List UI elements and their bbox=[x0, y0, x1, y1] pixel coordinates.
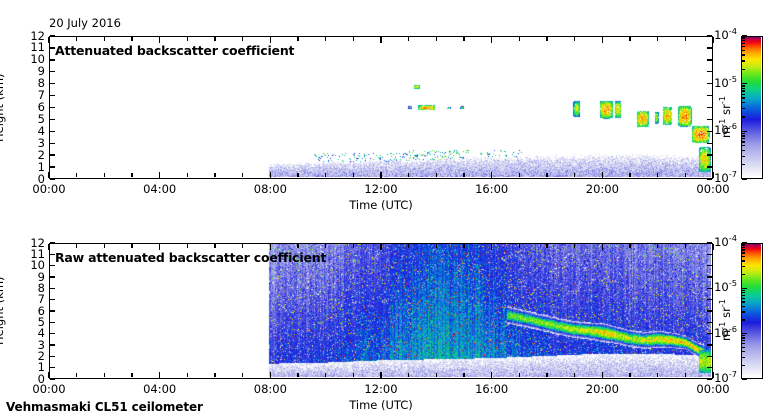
colorbar-minor-tick-1--6-6 bbox=[742, 298, 745, 299]
x-tick-label-attenuated-backscatter-3: 12:00 bbox=[353, 182, 409, 196]
x-minor-tick-attenuated-backscatter-19 bbox=[574, 173, 575, 177]
x-tick-label-attenuated-backscatter-1: 04:00 bbox=[132, 182, 188, 196]
colorbar-minor-tick-1--6-4 bbox=[742, 306, 745, 307]
colorbar-minor-tick-1--5-2 bbox=[742, 274, 745, 275]
x-tick-top-attenuated-backscatter-2 bbox=[270, 37, 271, 43]
y-tick-label-attenuated-backscatter-8: 8 bbox=[13, 76, 45, 90]
x-minor-tick-raw-attenuated-backscatter-2 bbox=[104, 373, 105, 377]
y-tick-raw-attenuated-backscatter-9 bbox=[50, 276, 55, 277]
colorbar-minor-tick-0--5-7 bbox=[742, 43, 745, 44]
colorbar-tick-1-3 bbox=[742, 378, 747, 379]
y-tick-right-raw-attenuated-backscatter-2 bbox=[707, 356, 712, 357]
x-tick-label-attenuated-backscatter-2: 08:00 bbox=[242, 182, 298, 196]
backscatter-field-attenuated bbox=[50, 37, 711, 177]
y-tick-right-raw-attenuated-backscatter-3 bbox=[707, 344, 712, 345]
y-tick-right-raw-attenuated-backscatter-7 bbox=[707, 299, 712, 300]
colorbar-minor-tick-0--5-4 bbox=[742, 54, 745, 55]
x-minor-tick-raw-attenuated-backscatter-23 bbox=[685, 373, 686, 377]
y-tick-label-attenuated-backscatter-12: 12 bbox=[13, 29, 45, 43]
x-tick-raw-attenuated-backscatter-2 bbox=[270, 372, 271, 378]
date-label: 20 July 2016 bbox=[49, 16, 121, 30]
x-minor-tick-top-raw-attenuated-backscatter-7 bbox=[242, 244, 243, 248]
colorbar-tick-0-0 bbox=[742, 35, 747, 36]
y-tick-raw-attenuated-backscatter-6 bbox=[50, 310, 55, 311]
x-minor-tick-top-attenuated-backscatter-22 bbox=[657, 37, 658, 41]
x-tick-attenuated-backscatter-1 bbox=[159, 172, 160, 178]
x-minor-tick-raw-attenuated-backscatter-7 bbox=[242, 373, 243, 377]
x-tick-top-attenuated-backscatter-3 bbox=[380, 37, 381, 43]
x-tick-label-raw-attenuated-backscatter-0: 00:00 bbox=[21, 382, 77, 396]
y-tick-label-attenuated-backscatter-5: 5 bbox=[13, 112, 45, 126]
colorbar-minor-tick-0--6-7 bbox=[742, 90, 745, 91]
colorbar-tick-label-0-1: 10-5 bbox=[701, 76, 737, 90]
y-tick-attenuated-backscatter-12 bbox=[50, 35, 55, 36]
y-tick-right-attenuated-backscatter-10 bbox=[707, 59, 712, 60]
x-minor-tick-top-attenuated-backscatter-21 bbox=[629, 37, 630, 41]
colorbar-minor-tick-1--5-6 bbox=[742, 252, 745, 253]
colorbar-minor-tick-1--7-7 bbox=[742, 340, 745, 341]
x-minor-tick-top-raw-attenuated-backscatter-10 bbox=[325, 244, 326, 248]
y-tick-right-raw-attenuated-backscatter-6 bbox=[707, 310, 712, 311]
y-axis-title-attenuated: Height (km) bbox=[0, 73, 6, 142]
colorbar-tick-label-0-3: 10-7 bbox=[701, 171, 737, 185]
x-minor-tick-attenuated-backscatter-11 bbox=[353, 173, 354, 177]
colorbar-minor-tick-1--5-4 bbox=[742, 260, 745, 261]
y-tick-attenuated-backscatter-8 bbox=[50, 83, 55, 84]
x-tick-top-raw-attenuated-backscatter-0 bbox=[48, 244, 49, 250]
x-minor-tick-top-attenuated-backscatter-17 bbox=[519, 37, 520, 41]
x-minor-tick-attenuated-backscatter-10 bbox=[325, 173, 326, 177]
x-minor-tick-top-raw-attenuated-backscatter-3 bbox=[131, 244, 132, 248]
y-tick-attenuated-backscatter-11 bbox=[50, 47, 55, 48]
x-minor-tick-raw-attenuated-backscatter-21 bbox=[629, 373, 630, 377]
x-tick-label-raw-attenuated-backscatter-4: 16:00 bbox=[464, 382, 520, 396]
y-tick-right-raw-attenuated-backscatter-11 bbox=[707, 254, 712, 255]
y-tick-attenuated-backscatter-2 bbox=[50, 154, 55, 155]
x-minor-tick-top-raw-attenuated-backscatter-15 bbox=[463, 244, 464, 248]
x-minor-tick-raw-attenuated-backscatter-22 bbox=[657, 373, 658, 377]
x-axis-title-attenuated: Time (UTC) bbox=[321, 198, 441, 212]
x-minor-tick-raw-attenuated-backscatter-1 bbox=[76, 373, 77, 377]
colorbar-minor-tick-0--5-2 bbox=[742, 69, 745, 70]
x-tick-label-attenuated-backscatter-0: 00:00 bbox=[21, 182, 77, 196]
colorbar-minor-tick-0--5-8 bbox=[742, 40, 745, 41]
y-tick-right-raw-attenuated-backscatter-9 bbox=[707, 276, 712, 277]
colorbar-minor-tick-0--5-5 bbox=[742, 50, 745, 51]
colorbar-tick-label-1-1: 10-5 bbox=[701, 280, 737, 294]
x-axis-title-raw: Time (UTC) bbox=[321, 398, 441, 412]
x-minor-tick-attenuated-backscatter-5 bbox=[187, 173, 188, 177]
x-minor-tick-top-raw-attenuated-backscatter-6 bbox=[214, 244, 215, 248]
y-tick-attenuated-backscatter-0 bbox=[50, 178, 55, 179]
x-tick-top-raw-attenuated-backscatter-2 bbox=[270, 244, 271, 250]
x-minor-tick-top-attenuated-backscatter-13 bbox=[408, 37, 409, 41]
x-minor-tick-attenuated-backscatter-22 bbox=[657, 173, 658, 177]
x-tick-label-raw-attenuated-backscatter-3: 12:00 bbox=[353, 382, 409, 396]
colorbar-minor-tick-1--6-3 bbox=[742, 311, 745, 312]
y-tick-attenuated-backscatter-9 bbox=[50, 71, 55, 72]
x-minor-tick-attenuated-backscatter-7 bbox=[242, 173, 243, 177]
colorbar-minor-tick-0--6-3 bbox=[742, 108, 745, 109]
figure-canvas: 20 July 2016 Attenuated backscatter coef… bbox=[0, 0, 780, 420]
colorbar-minor-tick-0--7-6 bbox=[742, 141, 745, 142]
plot-title-attenuated: Attenuated backscatter coefficient bbox=[55, 43, 294, 58]
x-minor-tick-top-attenuated-backscatter-15 bbox=[463, 37, 464, 41]
x-minor-tick-attenuated-backscatter-3 bbox=[131, 173, 132, 177]
x-tick-top-attenuated-backscatter-4 bbox=[491, 37, 492, 43]
x-minor-tick-top-attenuated-backscatter-1 bbox=[76, 37, 77, 41]
colorbar-minor-tick-0--7-5 bbox=[742, 145, 745, 146]
y-tick-label-attenuated-backscatter-10: 10 bbox=[13, 52, 45, 66]
y-tick-raw-attenuated-backscatter-4 bbox=[50, 333, 55, 334]
x-minor-tick-top-attenuated-backscatter-18 bbox=[546, 37, 547, 41]
y-tick-attenuated-backscatter-5 bbox=[50, 119, 55, 120]
colorbar-minor-tick-0--7-7 bbox=[742, 138, 745, 139]
colorbar-tick-label-0-0: 10-4 bbox=[701, 28, 737, 42]
x-minor-tick-attenuated-backscatter-21 bbox=[629, 173, 630, 177]
colorbar-minor-tick-0--6-6 bbox=[742, 94, 745, 95]
y-tick-right-attenuated-backscatter-9 bbox=[707, 71, 712, 72]
x-minor-tick-raw-attenuated-backscatter-18 bbox=[546, 373, 547, 377]
y-tick-label-attenuated-backscatter-11: 11 bbox=[13, 40, 45, 54]
colorbar-tick-label-1-3: 10-7 bbox=[701, 371, 737, 385]
y-tick-raw-attenuated-backscatter-10 bbox=[50, 265, 55, 266]
x-minor-tick-raw-attenuated-backscatter-9 bbox=[297, 373, 298, 377]
plot-title-raw: Raw attenuated backscatter coefficient bbox=[55, 250, 326, 265]
y-tick-raw-attenuated-backscatter-5 bbox=[50, 322, 55, 323]
x-minor-tick-raw-attenuated-backscatter-11 bbox=[353, 373, 354, 377]
x-minor-tick-attenuated-backscatter-13 bbox=[408, 173, 409, 177]
x-tick-attenuated-backscatter-0 bbox=[48, 172, 49, 178]
x-minor-tick-top-raw-attenuated-backscatter-19 bbox=[574, 244, 575, 248]
colorbar-minor-tick-1--6-9 bbox=[742, 290, 745, 291]
x-minor-tick-top-attenuated-backscatter-11 bbox=[353, 37, 354, 41]
x-tick-label-raw-attenuated-backscatter-2: 08:00 bbox=[242, 382, 298, 396]
x-tick-top-attenuated-backscatter-5 bbox=[602, 37, 603, 43]
colorbar-minor-tick-0--6-2 bbox=[742, 116, 745, 117]
x-minor-tick-top-raw-attenuated-backscatter-17 bbox=[519, 244, 520, 248]
x-tick-label-raw-attenuated-backscatter-5: 20:00 bbox=[574, 382, 630, 396]
colorbar-minor-tick-1--5-8 bbox=[742, 247, 745, 248]
colorbar-minor-tick-0--6-9 bbox=[742, 85, 745, 86]
x-tick-attenuated-backscatter-4 bbox=[491, 172, 492, 178]
colorbar-minor-tick-0--5-6 bbox=[742, 46, 745, 47]
x-minor-tick-top-raw-attenuated-backscatter-23 bbox=[685, 244, 686, 248]
y-tick-label-attenuated-backscatter-6: 6 bbox=[13, 100, 45, 114]
y-tick-label-attenuated-backscatter-3: 3 bbox=[13, 136, 45, 150]
y-tick-attenuated-backscatter-1 bbox=[50, 166, 55, 167]
x-minor-tick-top-attenuated-backscatter-23 bbox=[685, 37, 686, 41]
y-tick-label-attenuated-backscatter-1: 1 bbox=[13, 160, 45, 174]
x-minor-tick-top-raw-attenuated-backscatter-22 bbox=[657, 244, 658, 248]
y-tick-right-attenuated-backscatter-1 bbox=[707, 166, 712, 167]
y-tick-label-attenuated-backscatter-7: 7 bbox=[13, 88, 45, 102]
x-tick-raw-attenuated-backscatter-0 bbox=[48, 372, 49, 378]
colorbar-minor-tick-1--5-9 bbox=[742, 244, 745, 245]
x-minor-tick-top-attenuated-backscatter-10 bbox=[325, 37, 326, 41]
colorbar-minor-tick-1--5-5 bbox=[742, 256, 745, 257]
y-tick-raw-attenuated-backscatter-2 bbox=[50, 356, 55, 357]
colorbar-minor-tick-0--7-8 bbox=[742, 135, 745, 136]
x-minor-tick-top-attenuated-backscatter-3 bbox=[131, 37, 132, 41]
x-minor-tick-attenuated-backscatter-1 bbox=[76, 173, 77, 177]
colorbar-minor-tick-1--5-7 bbox=[742, 249, 745, 250]
y-tick-raw-attenuated-backscatter-12 bbox=[50, 242, 55, 243]
colorbar-minor-tick-1--6-5 bbox=[742, 301, 745, 302]
x-minor-tick-attenuated-backscatter-9 bbox=[297, 173, 298, 177]
colorbar-tick-0-2 bbox=[742, 131, 747, 132]
x-minor-tick-top-attenuated-backscatter-5 bbox=[187, 37, 188, 41]
x-minor-tick-raw-attenuated-backscatter-13 bbox=[408, 373, 409, 377]
x-tick-top-attenuated-backscatter-1 bbox=[159, 37, 160, 43]
x-minor-tick-attenuated-backscatter-23 bbox=[685, 173, 686, 177]
colorbar-tick-label-1-0: 10-4 bbox=[701, 235, 737, 249]
x-minor-tick-raw-attenuated-backscatter-19 bbox=[574, 373, 575, 377]
x-minor-tick-top-raw-attenuated-backscatter-5 bbox=[187, 244, 188, 248]
y-tick-right-raw-attenuated-backscatter-10 bbox=[707, 265, 712, 266]
x-minor-tick-attenuated-backscatter-15 bbox=[463, 173, 464, 177]
y-tick-attenuated-backscatter-10 bbox=[50, 59, 55, 60]
x-minor-tick-raw-attenuated-backscatter-6 bbox=[214, 373, 215, 377]
y-tick-right-attenuated-backscatter-3 bbox=[707, 143, 712, 144]
y-tick-label-raw-attenuated-backscatter-12: 12 bbox=[13, 236, 45, 250]
y-tick-raw-attenuated-backscatter-3 bbox=[50, 344, 55, 345]
y-tick-right-attenuated-backscatter-11 bbox=[707, 47, 712, 48]
colorbar-minor-tick-0--7-2 bbox=[742, 164, 745, 165]
x-minor-tick-attenuated-backscatter-6 bbox=[214, 173, 215, 177]
x-tick-raw-attenuated-backscatter-3 bbox=[380, 372, 381, 378]
colorbar-minor-tick-1--5-3 bbox=[742, 266, 745, 267]
colorbar-tick-label-0-2: 10-6 bbox=[701, 123, 737, 137]
y-axis-title-raw: Height (km) bbox=[0, 276, 6, 345]
y-tick-raw-attenuated-backscatter-7 bbox=[50, 299, 55, 300]
x-minor-tick-top-raw-attenuated-backscatter-21 bbox=[629, 244, 630, 248]
x-minor-tick-top-attenuated-backscatter-7 bbox=[242, 37, 243, 41]
y-tick-attenuated-backscatter-4 bbox=[50, 131, 55, 132]
colorbar-minor-tick-0--6-4 bbox=[742, 102, 745, 103]
colorbar-tick-0-3 bbox=[742, 178, 747, 179]
x-minor-tick-attenuated-backscatter-14 bbox=[436, 173, 437, 177]
x-minor-tick-raw-attenuated-backscatter-15 bbox=[463, 373, 464, 377]
colorbar-minor-tick-1--7-2 bbox=[742, 365, 745, 366]
colorbar-minor-tick-1--7-3 bbox=[742, 357, 745, 358]
y-tick-right-attenuated-backscatter-6 bbox=[707, 107, 712, 108]
x-minor-tick-top-raw-attenuated-backscatter-14 bbox=[436, 244, 437, 248]
station-footer-label: Vehmasmaki CL51 ceilometer bbox=[6, 400, 203, 414]
x-minor-tick-top-attenuated-backscatter-2 bbox=[104, 37, 105, 41]
x-tick-top-raw-attenuated-backscatter-3 bbox=[380, 244, 381, 250]
x-minor-tick-raw-attenuated-backscatter-3 bbox=[131, 373, 132, 377]
y-tick-label-attenuated-backscatter-9: 9 bbox=[13, 64, 45, 78]
colorbar-minor-tick-1--6-2 bbox=[742, 319, 745, 320]
x-tick-label-raw-attenuated-backscatter-1: 04:00 bbox=[132, 382, 188, 396]
y-tick-right-attenuated-backscatter-7 bbox=[707, 95, 712, 96]
colorbar-minor-tick-0--6-5 bbox=[742, 97, 745, 98]
x-tick-attenuated-backscatter-2 bbox=[270, 172, 271, 178]
colorbar-minor-tick-1--7-9 bbox=[742, 335, 745, 336]
x-tick-attenuated-backscatter-5 bbox=[602, 172, 603, 178]
colorbar-minor-tick-0--6-8 bbox=[742, 88, 745, 89]
y-tick-raw-attenuated-backscatter-11 bbox=[50, 254, 55, 255]
x-minor-tick-top-attenuated-backscatter-9 bbox=[297, 37, 298, 41]
x-tick-raw-attenuated-backscatter-4 bbox=[491, 372, 492, 378]
x-minor-tick-raw-attenuated-backscatter-17 bbox=[519, 373, 520, 377]
x-minor-tick-top-raw-attenuated-backscatter-9 bbox=[297, 244, 298, 248]
colorbar-minor-tick-0--7-4 bbox=[742, 150, 745, 151]
colorbar-minor-tick-0--5-9 bbox=[742, 37, 745, 38]
x-minor-tick-top-raw-attenuated-backscatter-1 bbox=[76, 244, 77, 248]
x-tick-attenuated-backscatter-3 bbox=[380, 172, 381, 178]
y-tick-attenuated-backscatter-7 bbox=[50, 95, 55, 96]
y-tick-raw-attenuated-backscatter-0 bbox=[50, 378, 55, 379]
x-minor-tick-top-raw-attenuated-backscatter-11 bbox=[353, 244, 354, 248]
x-minor-tick-top-attenuated-backscatter-19 bbox=[574, 37, 575, 41]
x-minor-tick-top-attenuated-backscatter-14 bbox=[436, 37, 437, 41]
y-tick-raw-attenuated-backscatter-8 bbox=[50, 288, 55, 289]
x-minor-tick-attenuated-backscatter-18 bbox=[546, 173, 547, 177]
x-tick-label-attenuated-backscatter-4: 16:00 bbox=[464, 182, 520, 196]
y-tick-right-attenuated-backscatter-5 bbox=[707, 119, 712, 120]
x-minor-tick-top-raw-attenuated-backscatter-13 bbox=[408, 244, 409, 248]
x-minor-tick-top-raw-attenuated-backscatter-18 bbox=[546, 244, 547, 248]
x-tick-top-raw-attenuated-backscatter-1 bbox=[159, 244, 160, 250]
x-minor-tick-top-attenuated-backscatter-6 bbox=[214, 37, 215, 41]
y-tick-raw-attenuated-backscatter-1 bbox=[50, 367, 55, 368]
x-tick-top-attenuated-backscatter-0 bbox=[48, 37, 49, 43]
colorbar-tick-0-1 bbox=[742, 83, 747, 84]
x-tick-top-raw-attenuated-backscatter-5 bbox=[602, 244, 603, 250]
y-tick-attenuated-backscatter-3 bbox=[50, 143, 55, 144]
colorbar-minor-tick-1--7-6 bbox=[742, 343, 745, 344]
x-minor-tick-attenuated-backscatter-2 bbox=[104, 173, 105, 177]
y-tick-label-attenuated-backscatter-2: 2 bbox=[13, 148, 45, 162]
colorbar-minor-tick-0--7-3 bbox=[742, 156, 745, 157]
colorbar-minor-tick-1--7-5 bbox=[742, 347, 745, 348]
colorbar-minor-tick-0--7-9 bbox=[742, 133, 745, 134]
x-minor-tick-raw-attenuated-backscatter-5 bbox=[187, 373, 188, 377]
colorbar-minor-tick-1--6-7 bbox=[742, 295, 745, 296]
x-tick-raw-attenuated-backscatter-1 bbox=[159, 372, 160, 378]
y-tick-right-raw-attenuated-backscatter-5 bbox=[707, 322, 712, 323]
colorbar-tick-label-1-2: 10-6 bbox=[701, 326, 737, 340]
colorbar-minor-tick-0--5-3 bbox=[742, 60, 745, 61]
x-tick-label-attenuated-backscatter-5: 20:00 bbox=[574, 182, 630, 196]
y-tick-right-attenuated-backscatter-2 bbox=[707, 154, 712, 155]
colorbar-minor-tick-1--7-4 bbox=[742, 351, 745, 352]
colorbar-minor-tick-1--6-8 bbox=[742, 292, 745, 293]
x-minor-tick-top-raw-attenuated-backscatter-2 bbox=[104, 244, 105, 248]
x-tick-top-raw-attenuated-backscatter-4 bbox=[491, 244, 492, 250]
y-tick-label-attenuated-backscatter-4: 4 bbox=[13, 124, 45, 138]
x-minor-tick-attenuated-backscatter-17 bbox=[519, 173, 520, 177]
x-minor-tick-raw-attenuated-backscatter-14 bbox=[436, 373, 437, 377]
y-tick-right-raw-attenuated-backscatter-1 bbox=[707, 367, 712, 368]
y-tick-attenuated-backscatter-6 bbox=[50, 107, 55, 108]
x-tick-raw-attenuated-backscatter-5 bbox=[602, 372, 603, 378]
x-minor-tick-raw-attenuated-backscatter-10 bbox=[325, 373, 326, 377]
colorbar-minor-tick-1--7-8 bbox=[742, 337, 745, 338]
